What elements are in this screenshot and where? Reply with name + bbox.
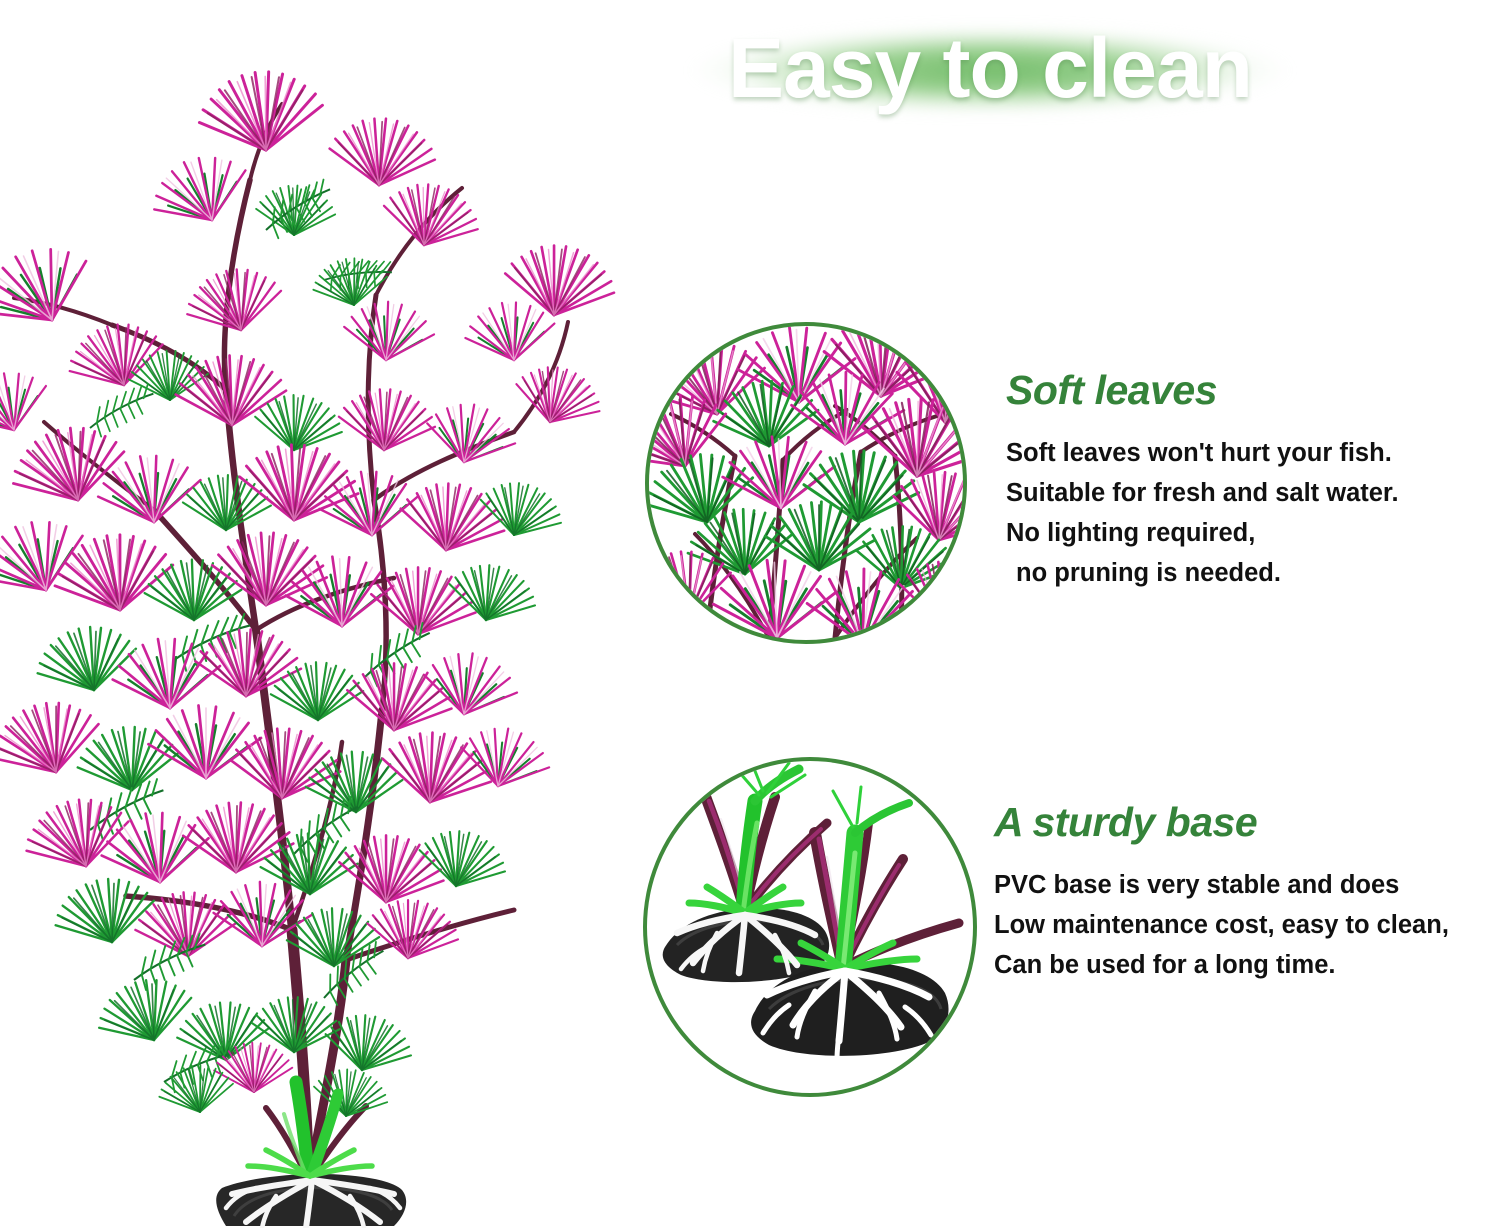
page-title-banner: Easy to clean <box>640 12 1340 124</box>
sturdy-base-inset-image <box>643 757 977 1097</box>
soft-leaves-line-3: No lighting required, <box>1006 513 1496 553</box>
soft-leaves-heading: Soft leaves <box>1006 370 1496 411</box>
sturdy-base-heading: A sturdy base <box>994 802 1500 843</box>
soft-leaves-line-4: no pruning is needed. <box>1006 553 1496 593</box>
page-title: Easy to clean <box>728 26 1252 110</box>
sturdy-base-line-3: Can be used for a long time. <box>994 945 1500 985</box>
soft-leaves-line-1: Soft leaves won't hurt your fish. <box>1006 433 1496 473</box>
sturdy-base-line-2: Low maintenance cost, easy to clean, <box>994 905 1500 945</box>
soft-leaves-inset-image <box>645 322 967 644</box>
soft-leaves-line-2: Suitable for fresh and salt water. <box>1006 473 1496 513</box>
soft-leaves-text-block: Soft leaves Soft leaves won't hurt your … <box>1006 370 1496 593</box>
sturdy-base-text-block: A sturdy base PVC base is very stable an… <box>994 802 1500 985</box>
hero-plant-image <box>0 30 634 1228</box>
sturdy-base-line-1: PVC base is very stable and does <box>994 865 1500 905</box>
